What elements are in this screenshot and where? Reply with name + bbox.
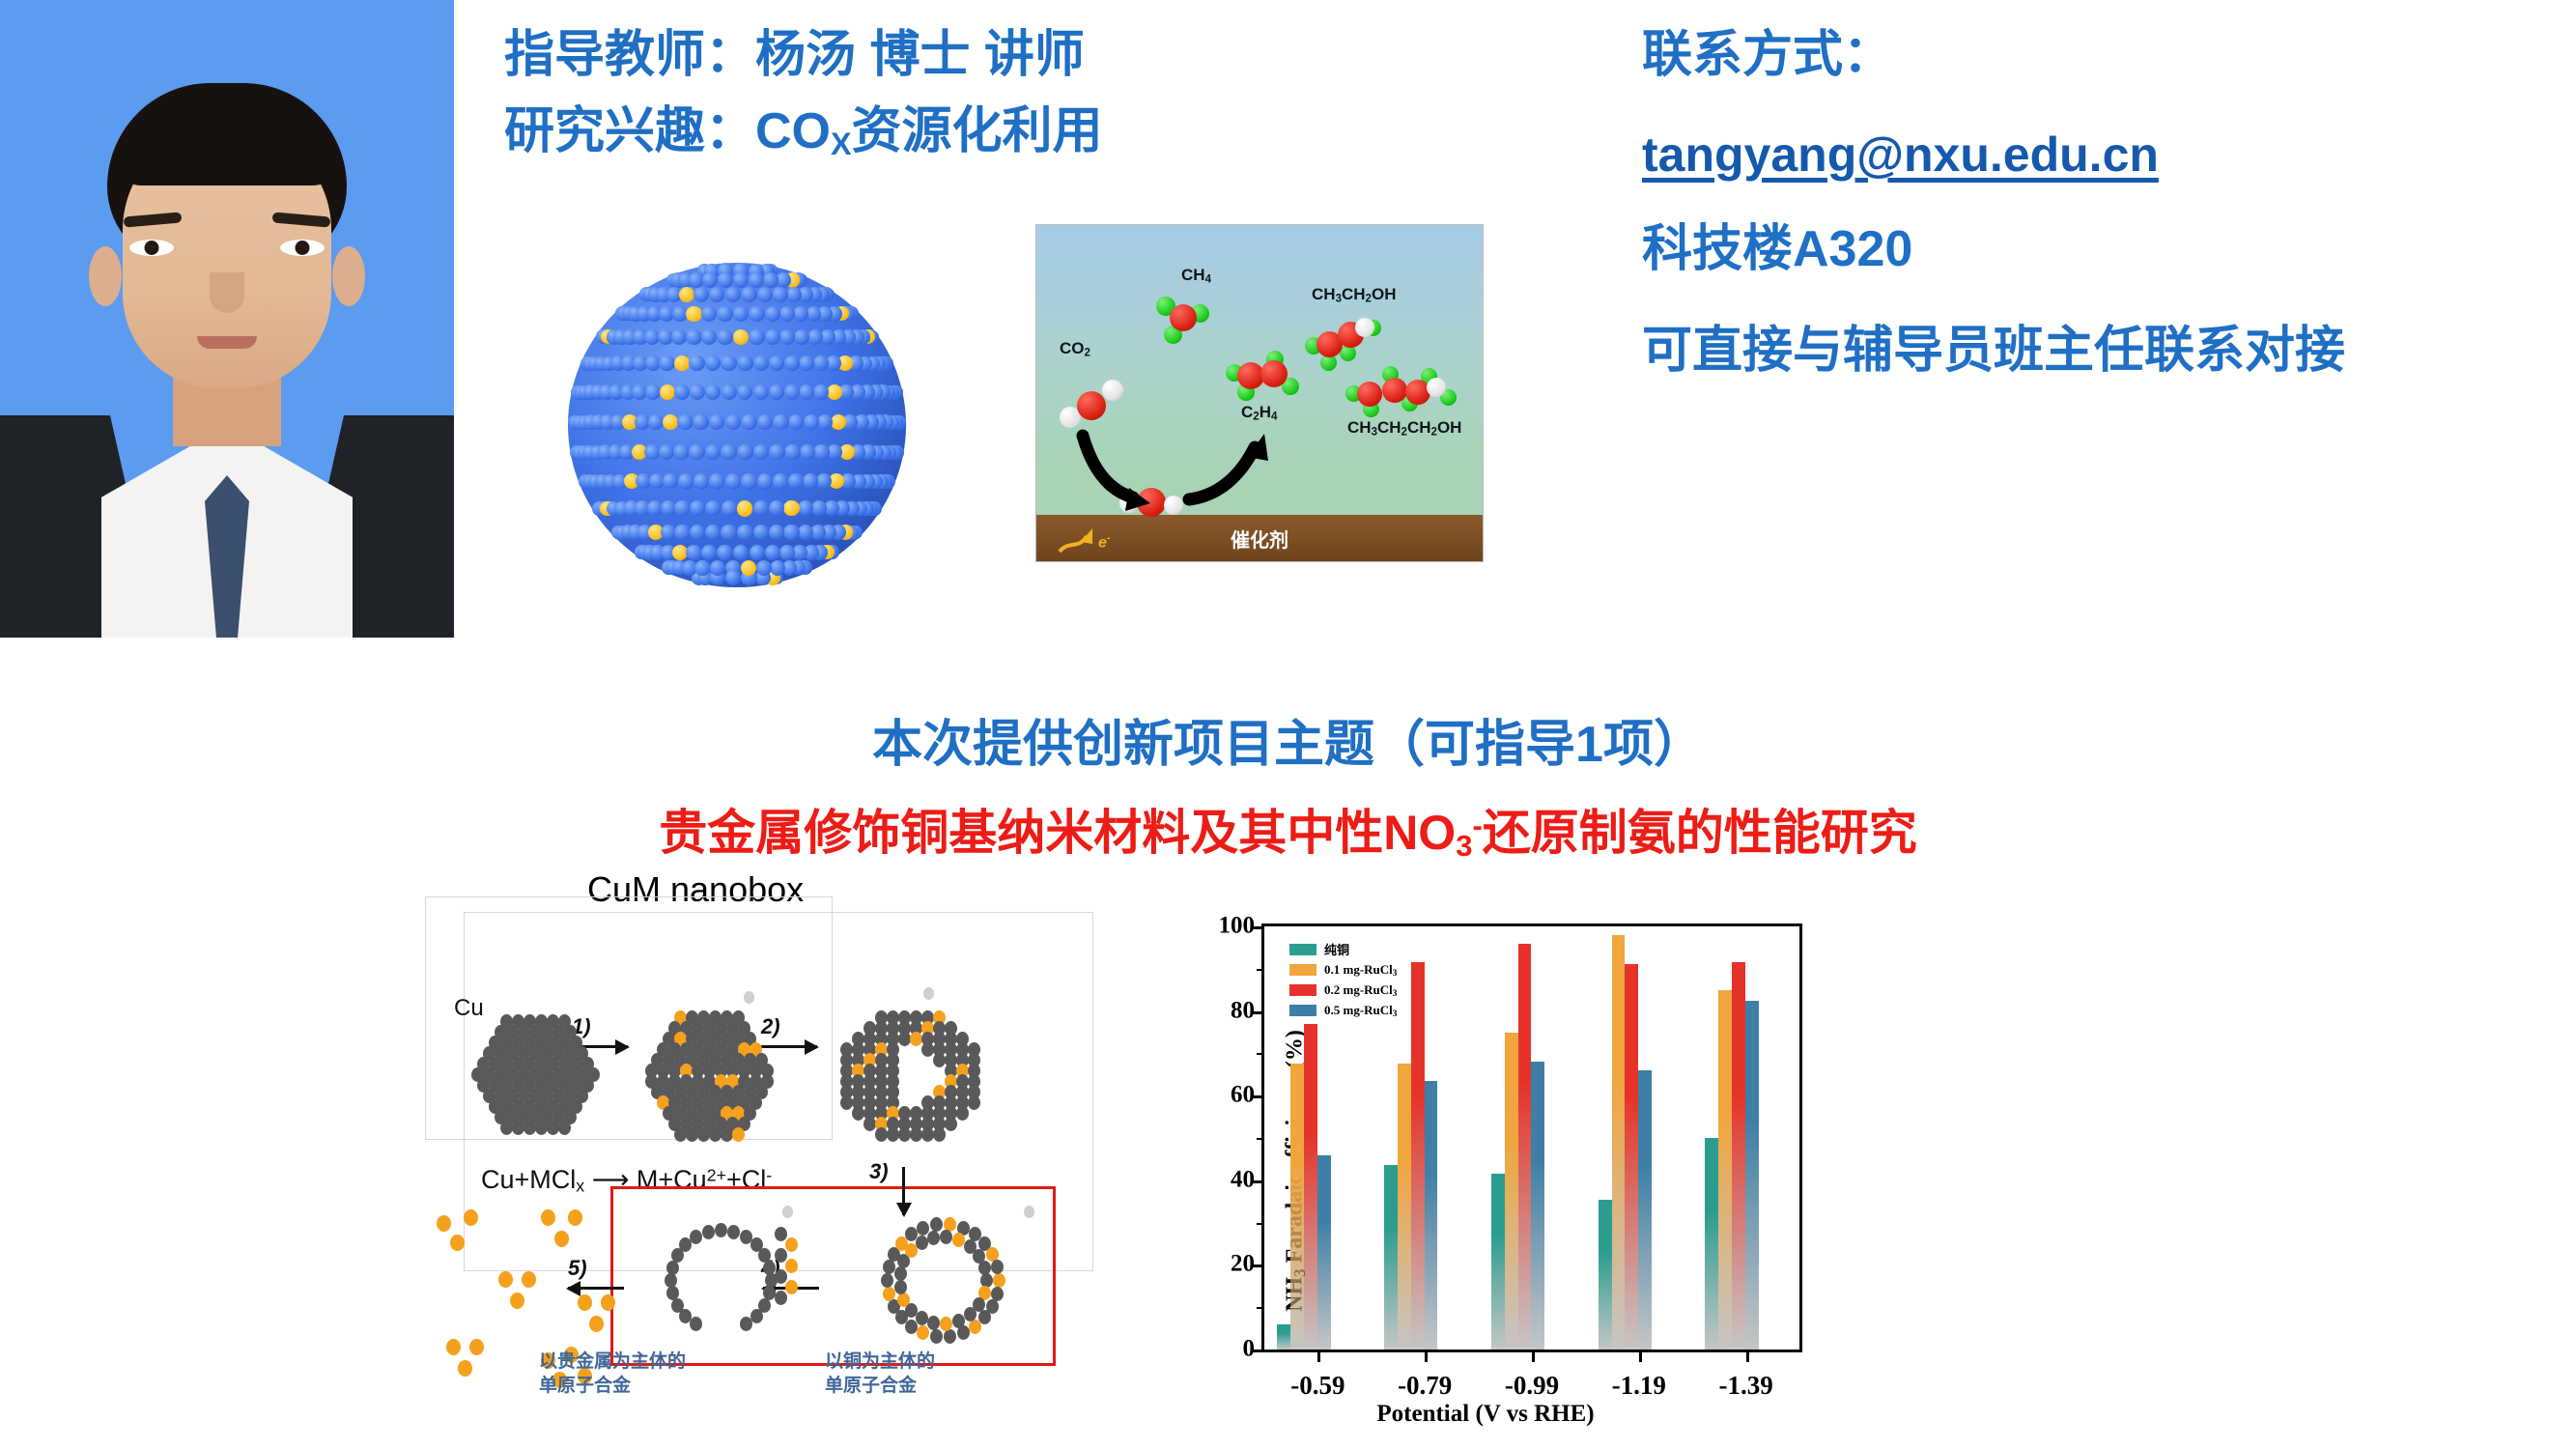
copper-atom [813, 355, 829, 371]
chart-y-tick-mark [1252, 926, 1264, 929]
chart-y-tick-label: 100 [1219, 912, 1256, 939]
copper-atom [769, 444, 784, 460]
section-title-blue: 本次提供创新项目主题（可指导1项） [0, 703, 2576, 776]
reaction-arrows [1036, 225, 1483, 561]
project-title-red: 贵金属修饰铜基纳米材料及其中性NO3-还原制氨的性能研究 [0, 794, 2576, 864]
chart-legend-swatch [1289, 944, 1316, 955]
chart-y-minor-tick [1257, 969, 1264, 971]
chart-y-minor-tick [1257, 1138, 1264, 1140]
chart-y-minor-tick [1257, 1307, 1264, 1309]
caption-right-line1: 以铜为主体的 [825, 1350, 935, 1375]
copper-particle [883, 1260, 895, 1274]
free-dopant-particle [498, 1271, 513, 1288]
chart-bar [1277, 1324, 1290, 1350]
copper-atom [813, 384, 829, 400]
hair-fringe [117, 116, 337, 185]
project-title-post: 还原制氨的性能研究 [1483, 806, 1917, 860]
copper-atom [779, 545, 795, 560]
copper-atom [689, 444, 704, 460]
chart-bar [1411, 962, 1425, 1350]
chart-legend-label: 纯铜 [1324, 940, 1349, 958]
copper-particle [916, 1236, 928, 1250]
chart-x-tick-label: -0.79 [1398, 1371, 1452, 1401]
copper-atom [693, 414, 708, 430]
chart-bar [1491, 1174, 1505, 1350]
copper-atom [725, 570, 741, 585]
copper-atom [701, 545, 717, 560]
research-interest-line: 研究兴趣：COX资源化利用 [504, 94, 1586, 170]
advisor-info: 指导教师：杨汤 博士 讲师 研究兴趣：COX资源化利用 [504, 17, 1586, 170]
chart-bar [1425, 1081, 1438, 1350]
copper-atom [784, 444, 800, 460]
chart-bar [1531, 1062, 1544, 1350]
copper-atom [741, 414, 756, 430]
free-dopant-particle [446, 1339, 461, 1355]
copper-atom [737, 355, 752, 371]
released-ion [923, 987, 934, 1000]
copper-atom [674, 500, 690, 516]
chart-bar [1384, 1165, 1398, 1350]
copper-atom [673, 444, 689, 460]
copper-particle [665, 1273, 677, 1288]
copper-atom [749, 306, 764, 322]
copper-particle [927, 1231, 940, 1245]
copper-atom [750, 545, 765, 560]
detached-particle [775, 1269, 787, 1284]
chart-legend-label: 0.5 mg-RuCl3 [1324, 1003, 1397, 1019]
chart-x-tick-label: -1.39 [1718, 1371, 1772, 1401]
email-link[interactable]: tangyang@nxu.edu.cn [1642, 127, 2569, 183]
copper-atom [725, 473, 741, 489]
contact-note: 可直接与辅导员班主任联系对接 [1642, 313, 2569, 389]
caption-left: 以贵金属为主体的 单原子合金 [539, 1350, 686, 1398]
copper-atom [786, 287, 802, 302]
free-dopant-particle [589, 1316, 604, 1332]
copper-particle [881, 1273, 893, 1288]
copper-atom [709, 473, 724, 489]
chart-legend-label: 0.1 mg-RuCl3 [1324, 962, 1397, 979]
caption-right: 以铜为主体的 单原子合金 [825, 1350, 935, 1398]
project-title-pre: 贵金属修饰铜基纳米材料及其中性NO [659, 806, 1456, 860]
detached-particle [775, 1291, 787, 1305]
copper-atom [725, 287, 741, 302]
copper-particle [690, 1317, 702, 1331]
free-dopant-particle [568, 1209, 582, 1226]
copper-atom [717, 306, 732, 322]
copper-atom [694, 560, 710, 576]
copper-particle [702, 1225, 715, 1239]
research-interest-post: 资源化利用 [852, 103, 1103, 159]
no3-subscript: 3 [1456, 829, 1472, 863]
dopant-particle [993, 1273, 1005, 1288]
mouth [197, 336, 257, 349]
copper-atom [694, 287, 709, 302]
chart-y-tick-mark [1252, 1350, 1264, 1352]
copper-atom [773, 473, 788, 489]
free-dopant-particle [522, 1271, 536, 1288]
copper-atom [659, 355, 674, 371]
copper-atom [770, 560, 785, 576]
faradaic-efficiency-chart: NH3 Faradaic efficiency (%) 纯铜0.1 mg-RuC… [1147, 900, 1824, 1441]
copper-particle [956, 1106, 969, 1121]
chart-legend-swatch [1289, 964, 1316, 976]
copper-atom [672, 306, 688, 322]
cum-nanobox-scheme: CuM nanobox Cu Cu+MClx ⟶ M+Cu2++Cl- 1) 2… [425, 869, 1091, 1410]
advisor-name-line: 指导教师：杨汤 博士 讲师 [504, 17, 1586, 94]
copper-atom [737, 525, 752, 540]
caption-left-line1: 以贵金属为主体的 [539, 1350, 686, 1375]
copper-atom [717, 545, 732, 560]
free-dopant-particle [578, 1294, 592, 1311]
released-ion [744, 991, 754, 1004]
copper-atom [765, 306, 780, 322]
ear-left [89, 246, 122, 306]
dopant-particle [897, 1293, 910, 1307]
chart-legend-item: 0.5 mg-RuCl3 [1289, 1003, 1397, 1019]
copper-particle [740, 1317, 752, 1331]
copper-atom [772, 287, 787, 302]
chart-y-tick-mark [1252, 1011, 1264, 1014]
chart-x-tick-label: -0.59 [1290, 1371, 1345, 1401]
copper-atom [677, 414, 693, 430]
chart-legend: 纯铜0.1 mg-RuCl30.2 mg-RuCl30.5 mg-RuCl3 [1289, 940, 1397, 1023]
copper-atom [807, 329, 823, 345]
advisor-portrait [0, 0, 454, 638]
detached-particle [785, 1237, 798, 1252]
chart-legend-swatch [1289, 1005, 1316, 1016]
contact-label: 联系方式： [1642, 17, 2569, 94]
cox-subscript: X [831, 127, 852, 161]
copper-particle [930, 1329, 943, 1344]
research-interest-pre: 研究兴趣：CO [504, 103, 831, 159]
chart-x-tick-mark [1639, 1350, 1642, 1362]
copper-atom [773, 414, 788, 430]
step-2-label: 2) [761, 1014, 780, 1039]
chart-bar [1732, 962, 1745, 1350]
nose [210, 272, 244, 313]
copper-particle [933, 1127, 946, 1142]
copper-particle [671, 1298, 684, 1313]
eye-right [280, 240, 325, 256]
chart-bar [1304, 1024, 1317, 1350]
nanoparticle-illustration [568, 263, 906, 587]
copper-atom [702, 272, 718, 288]
copper-atom [674, 525, 690, 540]
copper-particle [945, 1117, 957, 1131]
chart-x-tick-mark [1425, 1350, 1428, 1362]
released-ion [782, 1206, 793, 1218]
copper-atom [749, 329, 764, 345]
arrow-step-5 [568, 1287, 624, 1290]
chart-legend-swatch [1289, 984, 1316, 996]
chart-bar [1705, 1138, 1718, 1350]
copper-atom [710, 560, 725, 576]
dopant-atom [827, 384, 842, 400]
chart-bar [1599, 1200, 1612, 1350]
copper-atom [717, 329, 732, 345]
copper-atom [686, 545, 701, 560]
detached-particle [785, 1280, 798, 1294]
chart-bar [1638, 1070, 1652, 1350]
caption-right-line2: 单原子合金 [825, 1375, 935, 1399]
copper-particle [978, 1261, 991, 1275]
chart-x-tick-label: -1.19 [1612, 1371, 1666, 1401]
copper-particle [690, 1230, 702, 1244]
copper-atom [741, 473, 756, 489]
chart-bar [1745, 1001, 1759, 1350]
eye-left [129, 240, 174, 256]
chart-y-minor-tick [1257, 1053, 1264, 1055]
copper-atom [722, 500, 737, 516]
step-5-label: 5) [568, 1256, 587, 1281]
copper-atom [721, 525, 736, 540]
dopant-atom [831, 414, 846, 430]
chart-y-tick-mark [1252, 1264, 1264, 1267]
free-dopant-particle [601, 1294, 615, 1311]
free-dopant-particle [437, 1215, 451, 1232]
free-dopant-particle [450, 1235, 465, 1251]
chart-bar [1290, 1064, 1304, 1350]
copper-atom [813, 444, 829, 460]
copper-atom [765, 329, 780, 345]
copper-atom [737, 444, 752, 460]
copper-atom [757, 287, 773, 302]
copper-particle [968, 1095, 980, 1110]
chart-legend-item: 0.2 mg-RuCl3 [1289, 982, 1397, 999]
chart-bar [1505, 1033, 1518, 1350]
chart-x-tick-mark [1532, 1350, 1535, 1362]
copper-atom [686, 329, 701, 345]
step-3-label: 3) [869, 1159, 889, 1184]
cu-label: Cu [454, 995, 484, 1022]
copper-atom [765, 545, 780, 560]
dopant-atom [737, 500, 752, 516]
copper-atom [779, 306, 795, 322]
copper-atom [718, 272, 733, 288]
caption-left-line2: 单原子合金 [539, 1375, 686, 1399]
eq-sup2: - [766, 1166, 772, 1185]
chart-bar [1518, 944, 1532, 1350]
copper-atom [804, 414, 819, 430]
dopant-atom [686, 306, 701, 322]
free-dopant-particle [541, 1209, 555, 1226]
dopant-atom [660, 384, 675, 400]
copper-particle [763, 1261, 776, 1275]
chart-bar [1317, 1155, 1331, 1350]
chart-bar [1718, 990, 1732, 1350]
copper-atom [756, 560, 772, 576]
ear-right [332, 246, 365, 306]
chart-legend-label: 0.2 mg-RuCl3 [1324, 982, 1397, 999]
chart-bar [1612, 935, 1626, 1350]
chart-legend-item: 0.1 mg-RuCl3 [1289, 962, 1397, 979]
free-dopant-particle [510, 1293, 524, 1309]
co2-reduction-illustration: 催化剂 e- CO2 CH4 C2H4 CH3CH2OH CH3CH2CH2OH [1035, 224, 1484, 562]
eq-sub: x [576, 1177, 584, 1196]
copper-atom [783, 525, 799, 540]
free-dopant-particle [469, 1339, 484, 1355]
no3-charge: - [1472, 809, 1482, 842]
chart-bar [1625, 964, 1638, 1350]
eq-pre: Cu+MCl [481, 1165, 576, 1194]
copper-atom [678, 473, 694, 489]
eq-sup: 2+ [707, 1166, 726, 1185]
chart-x-tick-mark [1746, 1350, 1749, 1362]
copper-atom [671, 329, 687, 345]
copper-particle [558, 1121, 571, 1135]
copper-particle [927, 1316, 940, 1330]
free-dopant-particle [554, 1231, 569, 1247]
copper-atom [722, 384, 737, 400]
chart-y-tick-mark [1252, 1095, 1264, 1098]
copper-particle [894, 1266, 907, 1281]
copper-particle [894, 1280, 907, 1294]
arrow-step-3 [902, 1167, 905, 1215]
chart-plot-area: 纯铜0.1 mg-RuCl30.2 mg-RuCl30.5 mg-RuCl3 0… [1261, 923, 1802, 1352]
chart-x-tick-label: -0.99 [1505, 1371, 1559, 1401]
detached-particle [775, 1248, 787, 1263]
detached-particle [785, 1259, 798, 1273]
contact-info: 联系方式： tangyang@nxu.edu.cn 科技楼A320 可直接与辅导… [1642, 17, 2569, 389]
dopant-particle [883, 1287, 895, 1301]
arrow-step-2 [761, 1045, 817, 1048]
office-location: 科技楼A320 [1642, 212, 2569, 288]
chart-x-tick-mark [1317, 1350, 1320, 1362]
chart-y-tick-mark [1252, 1180, 1264, 1183]
free-dopant-particle [458, 1360, 472, 1377]
chart-legend-item: 纯铜 [1289, 940, 1397, 958]
chart-x-axis-label: Potential (V vs RHE) [1147, 1401, 1824, 1428]
dopant-particle [732, 1127, 745, 1142]
detached-particle [775, 1227, 787, 1241]
copper-atom [694, 473, 709, 489]
chart-y-minor-tick [1257, 1223, 1264, 1225]
copper-atom [741, 287, 756, 302]
chart-bar [1398, 1064, 1411, 1350]
copper-atom [798, 525, 813, 540]
copper-atom [690, 384, 705, 400]
dopant-atom [783, 500, 799, 516]
released-ion [1024, 1206, 1034, 1218]
free-dopant-particle [464, 1209, 478, 1226]
copper-particle [715, 1223, 727, 1237]
copper-atom [757, 473, 773, 489]
